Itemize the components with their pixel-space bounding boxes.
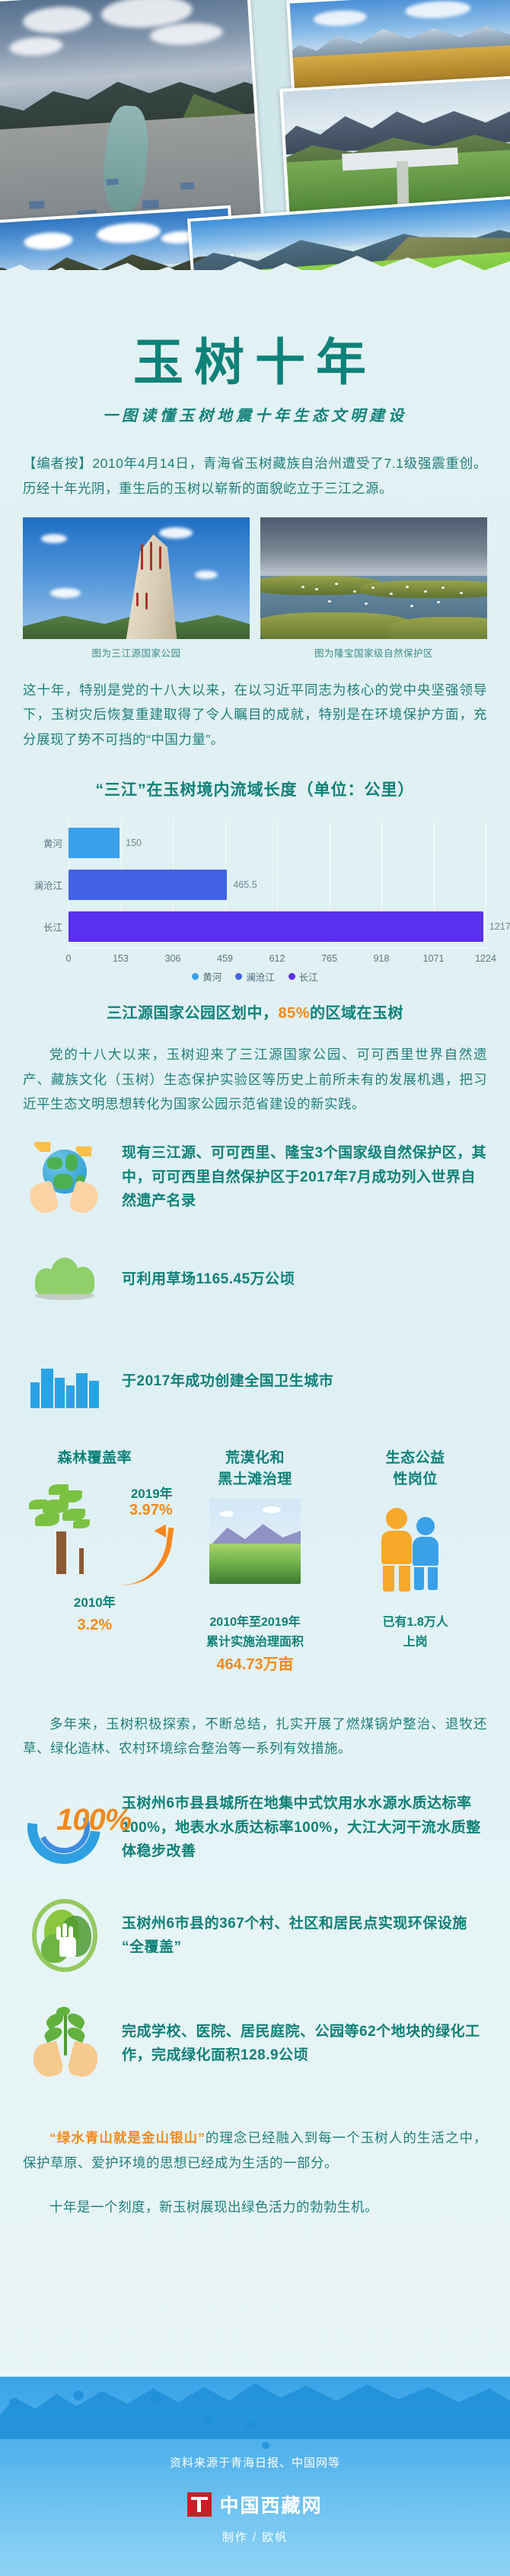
- stat-footer: 已有1.8万人 上岗: [337, 1613, 493, 1652]
- photo-caption: 图为三江源国家公园: [23, 645, 250, 660]
- green-circle-hand-icon: [23, 1894, 105, 1977]
- chart-value-label: 150: [126, 838, 142, 848]
- chart-x-tick: 765: [321, 953, 337, 964]
- paragraph-3: 多年来，玉树积极探索，不断总结，扎实开展了燃煤锅炉整治、退牧还草、绿化造林、农村…: [23, 1712, 487, 1761]
- editor-note-section: 【编者按】2010年4月14日，青海省玉树藏族自治州遭受了7.1级强震重创。历经…: [0, 451, 510, 752]
- page-footer: 资料来源于青海日报、中国网等 中国西藏网 制作 / 欧帆: [0, 2348, 510, 2576]
- chart-legend-dot-icon: [235, 973, 242, 980]
- hands-sprout-icon: [23, 2002, 105, 2085]
- chart-value-label: 465.5: [233, 879, 257, 890]
- paragraph-1: 这十年，特别是党的十八大以来，在以习近平同志为核心的党中央坚强领导下，玉树灾后恢…: [23, 678, 487, 752]
- two-people-icon: [337, 1499, 493, 1613]
- chart-category-label: 长江: [43, 920, 62, 934]
- chart-plot-area: 黄河150澜沧江465.5长江1217: [69, 819, 486, 949]
- stat-heading: 荒漠化和 黑土滩治理: [177, 1448, 333, 1490]
- chart-legend-label: 澜沧江: [246, 969, 275, 984]
- chart-x-tick: 612: [269, 953, 285, 964]
- photo-pair-row: 图为三江源国家公园: [23, 517, 487, 660]
- chart-x-tick: 1224: [475, 953, 496, 964]
- chart-legend: 黄河澜沧江长江: [14, 969, 496, 984]
- icon-fact-health-city: 于2017年成功创建全国卫生城市: [23, 1340, 487, 1422]
- banner-highlight: 85%: [278, 1005, 310, 1022]
- stat-year-bottom: 2010年: [17, 1592, 173, 1613]
- percent-badge: 100%: [56, 1803, 131, 1837]
- chart-legend-dot-icon: [288, 973, 295, 980]
- grassland-landscape-icon: [177, 1499, 333, 1613]
- banner-pre: 三江源国家公园区划中，: [107, 1005, 279, 1022]
- tree-growth-arrow-icon: 2019年 3.97%: [17, 1478, 173, 1592]
- icon-fact-text: 可利用草场1165.45万公顷: [122, 1267, 487, 1291]
- stat-footer: 2010年 3.2%: [17, 1592, 173, 1637]
- photo-cell-sanjiangyuan: 图为三江源国家公园: [23, 517, 250, 660]
- river-length-bar-chart: 黄河150澜沧江465.5长江1217 01533064596127659181…: [14, 814, 496, 978]
- green-quote: “绿水青山就是金山银山”的理念已经融入到每一个玉树人的生活之中，保护草原、爱护环…: [23, 2126, 487, 2175]
- chart-bar: [69, 911, 483, 942]
- stat-foot-line2: 上岗: [337, 1633, 493, 1652]
- china-tibet-net-logo-icon: [187, 2492, 212, 2517]
- chart-value-label: 1217: [489, 921, 510, 932]
- footer-brand: 中国西藏网: [0, 2491, 510, 2518]
- page-subtitle: 一图读懂玉树地震十年生态文明建设: [0, 403, 510, 425]
- stat-value-bottom: 3.2%: [17, 1613, 173, 1637]
- chart-legend-dot-icon: [192, 973, 199, 980]
- stat-foot-line1: 已有1.8万人: [337, 1613, 493, 1633]
- chart-x-tick: 459: [217, 953, 233, 964]
- chart-bar-row: 长江1217: [69, 911, 486, 942]
- paragraph-3-section: 多年来，玉树积极探索，不断总结，扎实开展了燃煤锅炉整治、退牧还草、绿化造林、农村…: [0, 1712, 510, 1761]
- stat-desertification: 荒漠化和 黑土滩治理 2010年至2019年 累计实施治理面积 464.73万亩: [177, 1448, 333, 1676]
- stat-foot-line2: 累计实施治理面积: [177, 1633, 333, 1652]
- chart-category-label: 澜沧江: [33, 878, 62, 892]
- photo-cell-longbao: 图为隆宝国家级自然保护区: [260, 517, 487, 660]
- photo-caption: 图为隆宝国家级自然保护区: [260, 645, 487, 660]
- river-length-chart-section: “三江”在玉树境内流域长度（单位：公里） 黄河150澜沧江465.5长江1217…: [0, 778, 510, 978]
- three-stat-columns: 森林覆盖率 2019年 3.97%: [17, 1448, 493, 1676]
- page-title: 玉树十年: [0, 337, 510, 390]
- chart-bar-row: 黄河150: [69, 828, 486, 858]
- chart-bar: [69, 828, 120, 858]
- longbao-nature-reserve-photo: [260, 517, 487, 639]
- icon-fact-text: 于2017年成功创建全国卫生城市: [122, 1369, 487, 1393]
- closing-section: “绿水青山就是金山银山”的理念已经融入到每一个玉树人的生活之中，保护草原、爱护环…: [0, 2126, 510, 2219]
- stat-foot-line1: 2010年至2019年: [177, 1613, 333, 1633]
- icon-fact-grassland: 可利用草场1165.45万公顷: [23, 1238, 487, 1320]
- footer-credit: 制作 / 欧帆: [0, 2529, 510, 2545]
- icon-fact-text: 玉树州6市县县城所在地集中式饮用水水源水质达标率100%，地表水水质达标率100…: [122, 1792, 487, 1863]
- icon-fact-water-quality: 100% 玉树州6市县县城所在地集中式饮用水水源水质达标率100%，地表水水质达…: [23, 1786, 487, 1868]
- banner-post: 的区域在玉树: [310, 1005, 403, 1022]
- footer-source: 资料来源于青海日报、中国网等: [0, 2454, 510, 2470]
- stat-eco-jobs: 生态公益 性岗位 已有1.8万人 上岗: [337, 1448, 493, 1676]
- stat-forest-coverage: 森林覆盖率 2019年 3.97%: [17, 1448, 173, 1676]
- chart-legend-item[interactable]: 澜沧江: [235, 969, 275, 984]
- title-block: 玉树十年 一图读懂玉树地震十年生态文明建设: [0, 316, 510, 425]
- percent-ring-icon: 100%: [23, 1786, 105, 1868]
- sanjiangyuan-national-park-photo: [23, 517, 250, 639]
- chart-bar-row: 澜沧江465.5: [69, 870, 486, 900]
- globe-in-hands-icon: [23, 1136, 105, 1218]
- icon-fact-protected-areas: 现有三江源、可可西里、隆宝3个国家级自然保护区，其中，可可西里自然保护区于201…: [23, 1136, 487, 1218]
- chart-x-tick: 918: [374, 953, 390, 964]
- icon-fact-text: 现有三江源、可可西里、隆宝3个国家级自然保护区，其中，可可西里自然保护区于201…: [122, 1141, 487, 1213]
- chart-legend-item[interactable]: 长江: [288, 969, 318, 984]
- chart-gridline: [486, 819, 486, 949]
- icon-fact-text: 玉树州6市县的367个村、社区和居民点实现环保设施“全覆盖”: [122, 1912, 487, 1960]
- chart-x-tick: 1071: [423, 953, 445, 964]
- chart-x-tick: 306: [165, 953, 181, 964]
- chart-legend-item[interactable]: 黄河: [192, 969, 222, 984]
- chart-x-axis: [69, 948, 489, 949]
- icon-fact-text: 完成学校、医院、居民庭院、公园等62个地块的绿化工作，完成绿化面积128.9公顷: [122, 2020, 487, 2068]
- infographic-page: 玉树十年 一图读懂玉树地震十年生态文明建设 【编者按】2010年4月14日，青海…: [0, 0, 510, 2576]
- stat-footer: 2010年至2019年 累计实施治理面积 464.73万亩: [177, 1613, 333, 1676]
- stat-value-top: 3.97%: [129, 1502, 173, 1519]
- icon-fact-greening: 完成学校、医院、居民庭院、公园等62个地块的绿化工作，完成绿化面积128.9公顷: [23, 2002, 487, 2085]
- quote-highlight: “绿水青山就是金山银山”: [49, 2130, 205, 2145]
- chart-x-tick: 153: [113, 953, 129, 964]
- city-skyline-icon: [23, 1340, 105, 1422]
- chart-title: “三江”在玉树境内流域长度（单位：公里）: [0, 778, 510, 800]
- editor-note: 【编者按】2010年4月14日，青海省玉树藏族自治州遭受了7.1级强震重创。历经…: [23, 451, 487, 501]
- icon-fact-env-facilities: 玉树州6市县的367个村、社区和居民点实现环保设施“全覆盖”: [23, 1894, 487, 1977]
- stat-foot-value: 464.73万亩: [177, 1652, 333, 1677]
- paragraph-2-section: 党的十八大以来，玉树迎来了三江源国家公园、可可西里世界自然遗产、藏族文化（玉树）…: [0, 1042, 510, 1116]
- hero-photo-collage: [0, 0, 510, 270]
- grass-bush-icon: [23, 1238, 105, 1320]
- paragraph-2: 党的十八大以来，玉树迎来了三江源国家公园、可可西里世界自然遗产、藏族文化（玉树）…: [23, 1042, 487, 1116]
- stat-heading: 生态公益 性岗位: [337, 1448, 493, 1490]
- brand-name: 中国西藏网: [219, 2491, 322, 2518]
- chart-bar: [69, 870, 227, 900]
- stat-year-top: 2019年: [129, 1483, 173, 1502]
- chart-legend-label: 长江: [299, 969, 318, 984]
- stat-heading: 森林覆盖率: [17, 1448, 173, 1469]
- paragraph-4: 十年是一个刻度，新玉树展现出绿色活力的勃勃生机。: [23, 2195, 487, 2219]
- chart-legend-label: 黄河: [202, 969, 222, 984]
- chart-x-tick: 0: [66, 953, 72, 964]
- chart-category-label: 黄河: [43, 836, 62, 851]
- banner-85-percent: 三江源国家公园区划中，85%的区域在玉树: [0, 1000, 510, 1022]
